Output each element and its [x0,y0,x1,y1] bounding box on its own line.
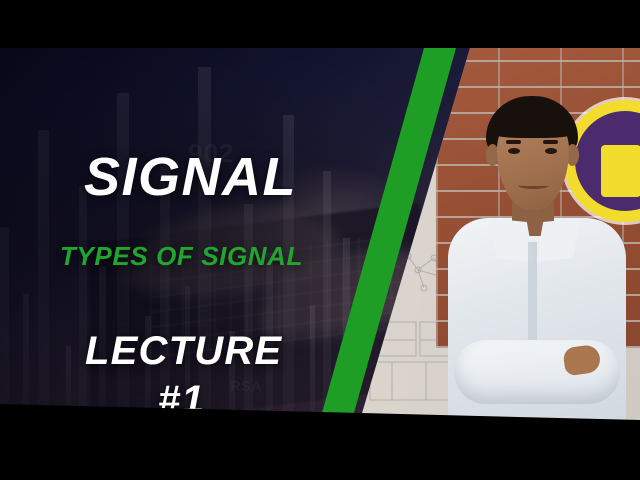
presenter-eyebrow-left [506,140,521,144]
page-title: SIGNAL [84,149,297,205]
presenter-eye-right [545,148,557,154]
letterbox-top-bar [0,0,640,48]
letterbox-bottom-bar [0,420,640,480]
presenter-eyebrow-right [543,140,558,144]
lecture-label: LECTURE [85,329,282,373]
video-thumbnail: 902 RSA [0,0,640,480]
presenter-eye-left [508,148,520,154]
presenter-figure [442,90,632,420]
page-subtitle: TYPES OF SIGNAL [60,241,303,271]
lecture-number: #1 [158,378,205,420]
presenter-mouth [518,182,549,189]
thumbnail-stage: 902 RSA [0,48,640,420]
headline-block: SIGNAL TYPES OF SIGNAL LECTURE #1 [0,48,400,420]
